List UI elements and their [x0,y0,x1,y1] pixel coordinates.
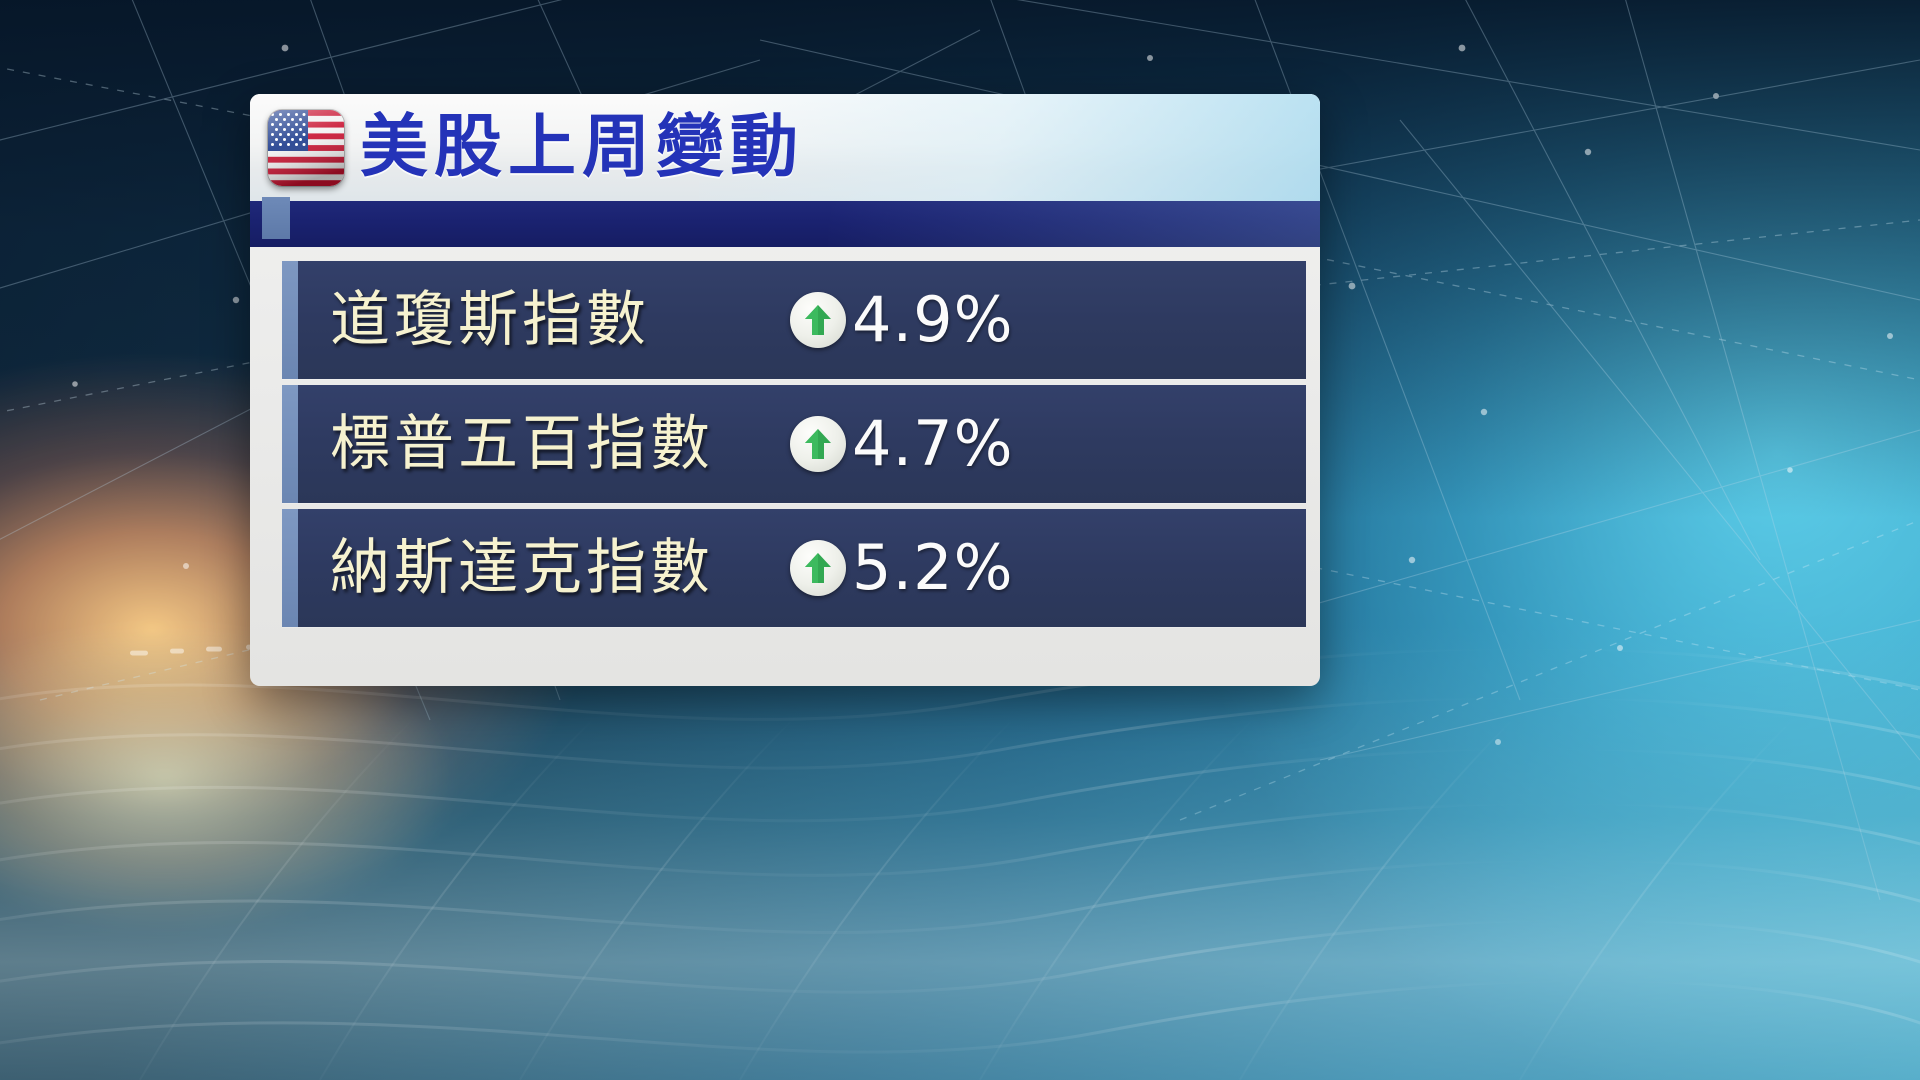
change-value: 4.9% [852,289,1014,351]
table-row: 標普五百指數 4.7% [282,385,1306,503]
up-arrow-icon [790,292,846,348]
page-title: 美股上周變動 [360,114,804,182]
stock-summary-card: 美股上周變動 道瓊斯指數 4.9% [250,94,1320,686]
table-row: 道瓊斯指數 4.9% [282,261,1306,379]
up-arrow-icon [790,540,846,596]
header-divider-bar [250,201,1320,247]
index-change: 4.9% [790,289,1014,351]
up-arrow-icon [790,416,846,472]
index-name: 標普五百指數 [330,414,714,474]
divider-sheen-decoration [828,201,1320,247]
us-flag-icon [268,110,344,186]
index-change: 4.7% [790,413,1014,475]
divider-left-tab [262,197,290,239]
index-name: 納斯達克指數 [330,538,714,598]
change-value: 5.2% [852,537,1014,599]
card-footer [250,633,1320,634]
card-header: 美股上周變動 [250,94,1320,201]
broadcast-graphic-stage: 美股上周變動 道瓊斯指數 4.9% [0,0,1920,1080]
index-rows-list: 道瓊斯指數 4.9% 標普五百指數 [250,247,1320,627]
table-row: 納斯達克指數 5.2% [282,509,1306,627]
change-value: 4.7% [852,413,1014,475]
index-change: 5.2% [790,537,1014,599]
index-name: 道瓊斯指數 [330,290,650,350]
